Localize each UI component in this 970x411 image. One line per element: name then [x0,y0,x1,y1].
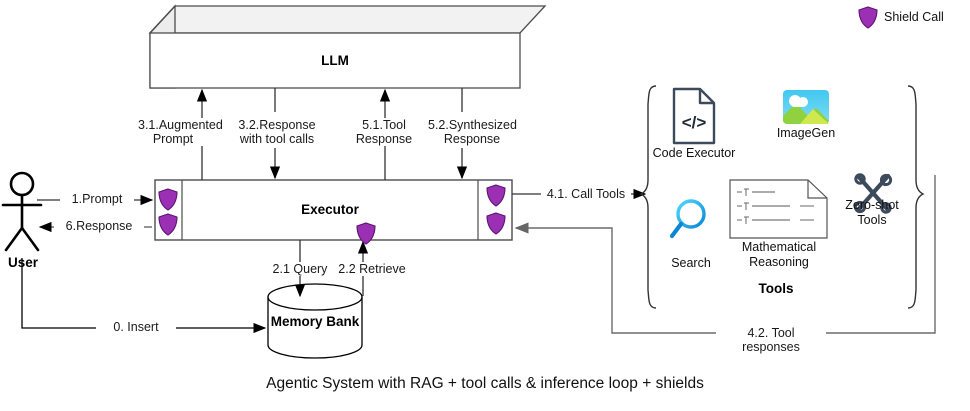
shield-call-icon-executor-in [158,188,177,210]
executor-label: Executor [182,202,478,217]
formula-document-icon [730,180,827,238]
edge-label-synthesized-response: 5.2.Synthesized Response [428,118,516,146]
shield-call-icon-tools-in [486,212,505,234]
llm-node[interactable] [150,6,545,88]
tool-label-mathematical-reasoning: Mathematical Reasoning [730,240,828,269]
user-label: User [0,255,46,270]
tools-left-brace [641,86,656,308]
edge-label-call-tools: 4.1. Call Tools [541,187,631,201]
tools-right-brace [908,86,923,308]
memory-bank-label: Memory Bank [268,314,362,329]
shield-call-icon-executor-out [158,213,177,235]
diagram-caption: Agentic System with RAG + tool calls & i… [0,375,970,393]
edge-label-query: 2.1 Query [266,262,334,276]
tools-group-label: Tools [716,281,836,296]
legend-shield-call-label: Shield Call [884,10,944,24]
image-picture-icon [783,90,829,124]
code-document-icon: </> [674,89,714,143]
llm-label: LLM [150,53,520,68]
edge-label-tool-responses: 4.2. Tool responses [716,326,826,354]
shield-call-icon-tools-out [486,184,505,206]
edge-label-response-with-tool-calls: 3.2.Response with tool calls [234,118,320,146]
edge-label-prompt: 1.Prompt [60,192,134,206]
svg-text:</>: </> [682,113,707,132]
edge-label-insert: 0. Insert [96,320,176,334]
edge-label-tool-response: 5.1.Tool Response [348,118,420,146]
tool-label-zero-shot-tools: Zero-shot Tools [840,198,904,227]
edge-label-augmented-prompt: 3.1.Augmented Prompt [138,118,208,146]
tool-label-search: Search [661,256,721,271]
edge-label-response: 6.Response [54,219,144,233]
edge-label-retrieve: 2.2 Retrieve [332,262,412,276]
diagram-canvas: </> [0,0,970,411]
shield-call-icon-memory [356,222,375,244]
magnifier-icon [672,201,704,236]
shield-call-icon-legend [858,6,877,28]
tool-label-imagegen: ImageGen [768,126,844,141]
tool-label-code-executor: Code Executor [646,146,742,161]
edge-insert [22,258,265,328]
user-node[interactable] [3,173,41,250]
